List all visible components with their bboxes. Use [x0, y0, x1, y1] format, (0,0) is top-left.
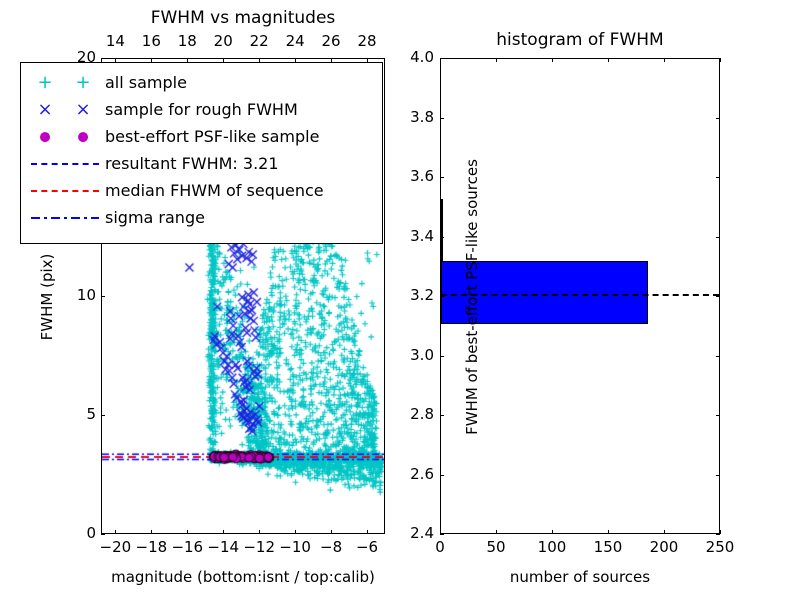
histogram-axes — [440, 58, 720, 534]
tick-mark — [716, 475, 720, 476]
legend-item-0[interactable]: ++all sample — [27, 69, 374, 96]
legend-item-3[interactable]: resultant FWHM: 3.21 — [27, 150, 374, 177]
cross-marker-glyph: × — [75, 101, 90, 119]
left-top-tick-label: 28 — [353, 32, 381, 50]
tick-mark — [716, 534, 720, 535]
tick-mark — [664, 58, 665, 62]
dashed-line — [27, 181, 105, 201]
tick-mark — [115, 530, 116, 534]
histogram-reference-lines — [441, 59, 719, 533]
tick-mark — [295, 530, 296, 534]
tick-mark — [440, 415, 444, 416]
right-x-tick-label: 200 — [644, 538, 684, 556]
left-bottom-tick-label: −16 — [169, 538, 205, 556]
tick-mark — [101, 534, 105, 535]
tick-mark — [367, 530, 368, 534]
tick-mark — [716, 237, 720, 238]
tick-mark — [496, 58, 497, 62]
circle-marker: ●● — [27, 127, 105, 147]
right-y-tick-label: 4.0 — [392, 48, 434, 66]
figure-canvas: FWHM vs magnitudes 1416182022242628 −20−… — [0, 0, 800, 600]
left-top-tick-label: 18 — [173, 32, 201, 50]
left-y-tick-label: 0 — [58, 524, 96, 542]
left-y-tick-label: 5 — [58, 405, 96, 423]
tick-mark — [720, 58, 721, 62]
left-top-tick-label: 14 — [101, 32, 129, 50]
left-top-tick-label: 16 — [137, 32, 165, 50]
tick-mark — [440, 475, 444, 476]
left-xaxis-label: magnitude (bottom:isnt / top:calib) — [101, 568, 385, 586]
legend-item-label: best-effort PSF-like sample — [105, 127, 319, 146]
tick-mark — [101, 58, 105, 59]
dashed-line — [31, 190, 99, 192]
right-y-tick-label: 2.8 — [392, 405, 434, 423]
right-x-tick-label: 250 — [700, 538, 740, 556]
tick-mark — [187, 530, 188, 534]
tick-mark — [716, 118, 720, 119]
legend-item-label: sigma range — [105, 208, 205, 227]
tick-mark — [440, 356, 444, 357]
right-x-tick-label: 50 — [476, 538, 516, 556]
tick-mark — [716, 177, 720, 178]
right-y-tick-label: 2.6 — [392, 465, 434, 483]
tick-mark — [716, 296, 720, 297]
tick-mark — [440, 58, 444, 59]
left-panel-title: FWHM vs magnitudes — [101, 8, 385, 28]
right-x-tick-label: 150 — [588, 538, 628, 556]
cross-marker: ×× — [27, 100, 105, 120]
resultant-fwhm-line — [441, 294, 719, 296]
legend-item-1[interactable]: ××sample for rough FWHM — [27, 96, 374, 123]
left-bottom-tick-label: −8 — [313, 538, 349, 556]
tick-mark — [552, 58, 553, 62]
legend-item-label: resultant FWHM: 3.21 — [105, 154, 279, 173]
left-bottom-tick-label: −6 — [349, 538, 385, 556]
tick-mark — [496, 530, 497, 534]
right-yaxis-label: FWHM of best-effort PSF-like sources — [463, 87, 481, 507]
tick-mark — [716, 58, 720, 59]
left-top-tick-label: 20 — [209, 32, 237, 50]
right-x-tick-label: 100 — [532, 538, 572, 556]
left-y-tick-label: 10 — [58, 286, 96, 304]
tick-mark — [440, 118, 444, 119]
right-y-tick-label: 3.0 — [392, 346, 434, 364]
dashdot-line — [31, 217, 99, 219]
tick-mark — [440, 237, 444, 238]
tick-mark — [440, 177, 444, 178]
tick-mark — [101, 415, 105, 416]
left-top-tick-label: 26 — [317, 32, 345, 50]
tick-mark — [716, 415, 720, 416]
circle-marker-glyph: ● — [77, 130, 88, 143]
dashed-line — [27, 154, 105, 174]
left-top-tick-label: 24 — [281, 32, 309, 50]
tick-mark — [720, 530, 721, 534]
tick-mark — [259, 530, 260, 534]
legend-item-2[interactable]: ●●best-effort PSF-like sample — [27, 123, 374, 150]
tick-mark — [608, 530, 609, 534]
tick-mark — [440, 534, 444, 535]
circle-marker-glyph: ● — [39, 130, 50, 143]
legend-item-4[interactable]: median FHWM of sequence — [27, 177, 374, 204]
dashed-line — [31, 163, 99, 165]
tick-mark — [223, 530, 224, 534]
tick-mark — [664, 530, 665, 534]
plus-marker: ++ — [27, 73, 105, 93]
tick-mark — [151, 530, 152, 534]
legend-item-label: median FHWM of sequence — [105, 181, 324, 200]
right-y-tick-label: 3.4 — [392, 227, 434, 245]
cross-marker-glyph: × — [37, 101, 52, 119]
tick-mark — [716, 356, 720, 357]
plus-marker-glyph: + — [37, 74, 52, 92]
plot-legend: ++all sample××sample for rough FWHM●●bes… — [20, 62, 383, 244]
right-y-tick-label: 3.6 — [392, 167, 434, 185]
tick-mark — [608, 58, 609, 62]
legend-item-5[interactable]: sigma range — [27, 204, 374, 231]
tick-mark — [331, 530, 332, 534]
dashdot-line — [27, 208, 105, 228]
right-y-tick-label: 3.2 — [392, 286, 434, 304]
right-panel-title: histogram of FWHM — [440, 30, 720, 50]
legend-item-label: sample for rough FWHM — [105, 100, 298, 119]
tick-mark — [101, 296, 105, 297]
left-top-tick-label: 22 — [245, 32, 273, 50]
legend-item-label: all sample — [105, 73, 187, 92]
left-bottom-tick-label: −14 — [205, 538, 241, 556]
plus-marker-glyph: + — [75, 74, 90, 92]
left-bottom-tick-label: −12 — [241, 538, 277, 556]
right-xaxis-label: number of sources — [440, 568, 720, 586]
right-y-tick-label: 2.4 — [392, 524, 434, 542]
right-y-tick-label: 3.8 — [392, 108, 434, 126]
tick-mark — [440, 296, 444, 297]
left-bottom-tick-label: −10 — [277, 538, 313, 556]
tick-mark — [552, 530, 553, 534]
left-bottom-tick-label: −20 — [97, 538, 133, 556]
left-bottom-tick-label: −18 — [133, 538, 169, 556]
